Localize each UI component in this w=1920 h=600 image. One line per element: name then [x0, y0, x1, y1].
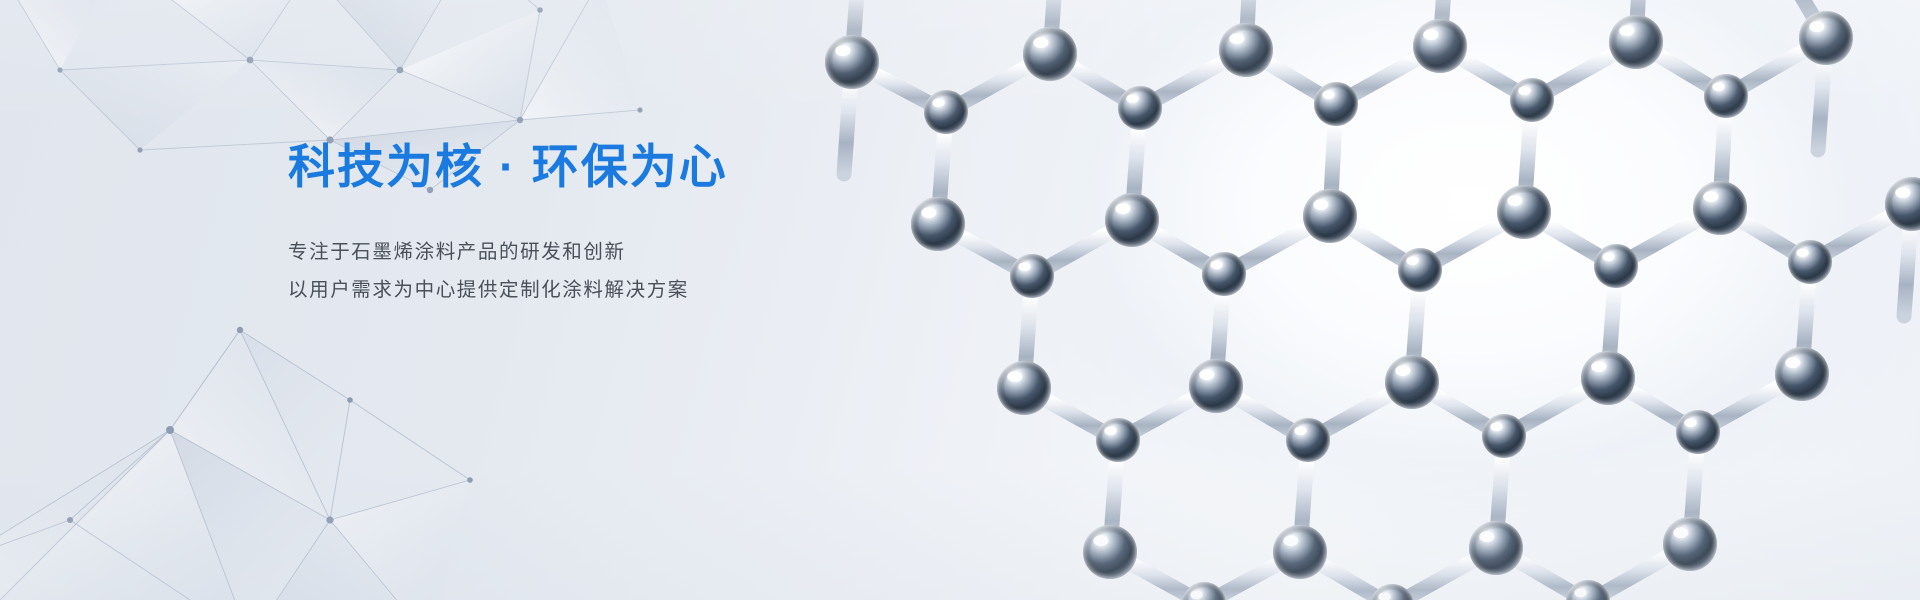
lattice-atom-specular	[1574, 588, 1586, 597]
lattice-atom-rim	[1497, 185, 1551, 239]
lattice-atom-rim	[1023, 27, 1077, 81]
lattice-atom-rim	[1096, 418, 1140, 462]
lattice-atom-rim	[1385, 355, 1439, 409]
lattice-atom-specular	[1406, 256, 1418, 265]
hero-banner: 科技为核 · 环保为心 专注于石墨烯涂料产品的研发和创新 以用户需求为中心提供定…	[0, 0, 1920, 600]
lattice-atom-specular	[1395, 365, 1410, 376]
lattice-atom-rim	[1219, 23, 1273, 77]
lattice-atom-specular	[1796, 248, 1808, 257]
lattice-atom-specular	[1190, 590, 1202, 599]
lattice-atom-specular	[1115, 203, 1130, 214]
lattice-atom-specular	[1619, 25, 1634, 36]
subtitle-line-2: 以用户需求为中心提供定制化涂料解决方案	[288, 271, 1068, 309]
lattice-atom-rim	[1510, 78, 1554, 122]
lattice-atom-rim	[1273, 525, 1327, 579]
lattice-atom-specular	[1809, 21, 1824, 32]
lattice-atom-rim	[1202, 252, 1246, 296]
lattice-atom-specular	[1673, 527, 1688, 538]
lattice-atom-rim	[1182, 582, 1226, 600]
lattice-atom-rim	[1775, 347, 1829, 401]
lattice-atom-specular	[1104, 426, 1116, 435]
lattice-atom-rim	[1303, 189, 1357, 243]
subtitle-group: 专注于石墨烯涂料产品的研发和创新 以用户需求为中心提供定制化涂料解决方案	[288, 233, 1068, 309]
lattice-atom-rim	[1788, 240, 1832, 284]
lattice-atom-specular	[1229, 33, 1244, 44]
lattice-atom-rim	[1314, 82, 1358, 126]
poly-shapes-bottom-left	[0, 330, 470, 600]
lattice-atom-rim	[1663, 517, 1717, 571]
lattice-atom-specular	[1507, 195, 1522, 206]
lattice-atom-rim	[1609, 15, 1663, 69]
lattice-atom-rim	[1370, 584, 1414, 600]
lattice-atom-specular	[1313, 199, 1328, 210]
lattice-atom-specular	[1895, 187, 1910, 198]
subtitle-line-1: 专注于石墨烯涂料产品的研发和创新	[288, 233, 1068, 271]
lattice-atom-rim	[1189, 359, 1243, 413]
page-title: 科技为核 · 环保为心	[288, 140, 1068, 195]
lattice-atom-rim	[1799, 11, 1853, 65]
lattice-atom-specular	[1518, 86, 1530, 95]
lattice-atom-specular	[1033, 37, 1048, 48]
lattice-atom-rim	[1566, 580, 1610, 600]
lattice-atom-specular	[1490, 422, 1502, 431]
lattice-atom-rim	[1413, 19, 1467, 73]
lattice-atom-rim	[924, 90, 968, 134]
lattice-atom-rim	[1581, 351, 1635, 405]
lattice-atom-rim	[1286, 418, 1330, 462]
lattice-atom-specular	[1126, 94, 1138, 103]
lattice-atom-specular	[1210, 260, 1222, 269]
lattice-atom-specular	[835, 45, 850, 56]
lattice-atom-specular	[1007, 371, 1022, 382]
lattice-atom-rim	[1693, 181, 1747, 235]
lattice-atom-specular	[1479, 531, 1494, 542]
lattice-atom-specular	[1684, 418, 1696, 427]
lattice-atom-specular	[1294, 426, 1306, 435]
lattice-atom-specular	[1322, 90, 1334, 99]
lattice-atom-rim	[1398, 248, 1442, 292]
lattice-atom-rim	[1704, 74, 1748, 118]
lattice-atom-specular	[1199, 369, 1214, 380]
lattice-atom-specular	[1423, 29, 1438, 40]
lattice-atom-rim	[825, 35, 879, 89]
hero-text-block: 科技为核 · 环保为心 专注于石墨烯涂料产品的研发和创新 以用户需求为中心提供定…	[288, 140, 1068, 309]
lattice-atom-rim	[997, 361, 1051, 415]
lattice-atom-specular	[1591, 361, 1606, 372]
lattice-atom-rim	[1469, 521, 1523, 575]
lattice-atom-rim	[1676, 410, 1720, 454]
lattice-atom-specular	[1703, 191, 1718, 202]
lattice-atom-specular	[932, 98, 944, 107]
lattice-atom-specular	[1093, 535, 1108, 546]
lattice-atom-rim	[1083, 525, 1137, 579]
lattice-atom-specular	[1283, 535, 1298, 546]
lattice-atom-rim	[1118, 86, 1162, 130]
lattice-atom-specular	[1785, 357, 1800, 368]
lattice-atom-rim	[1594, 244, 1638, 288]
lattice-atom-specular	[1712, 82, 1724, 91]
lattice-atom-specular	[1602, 252, 1614, 261]
lattice-atom-rim	[1105, 193, 1159, 247]
lattice-atom-rim	[1482, 414, 1526, 458]
